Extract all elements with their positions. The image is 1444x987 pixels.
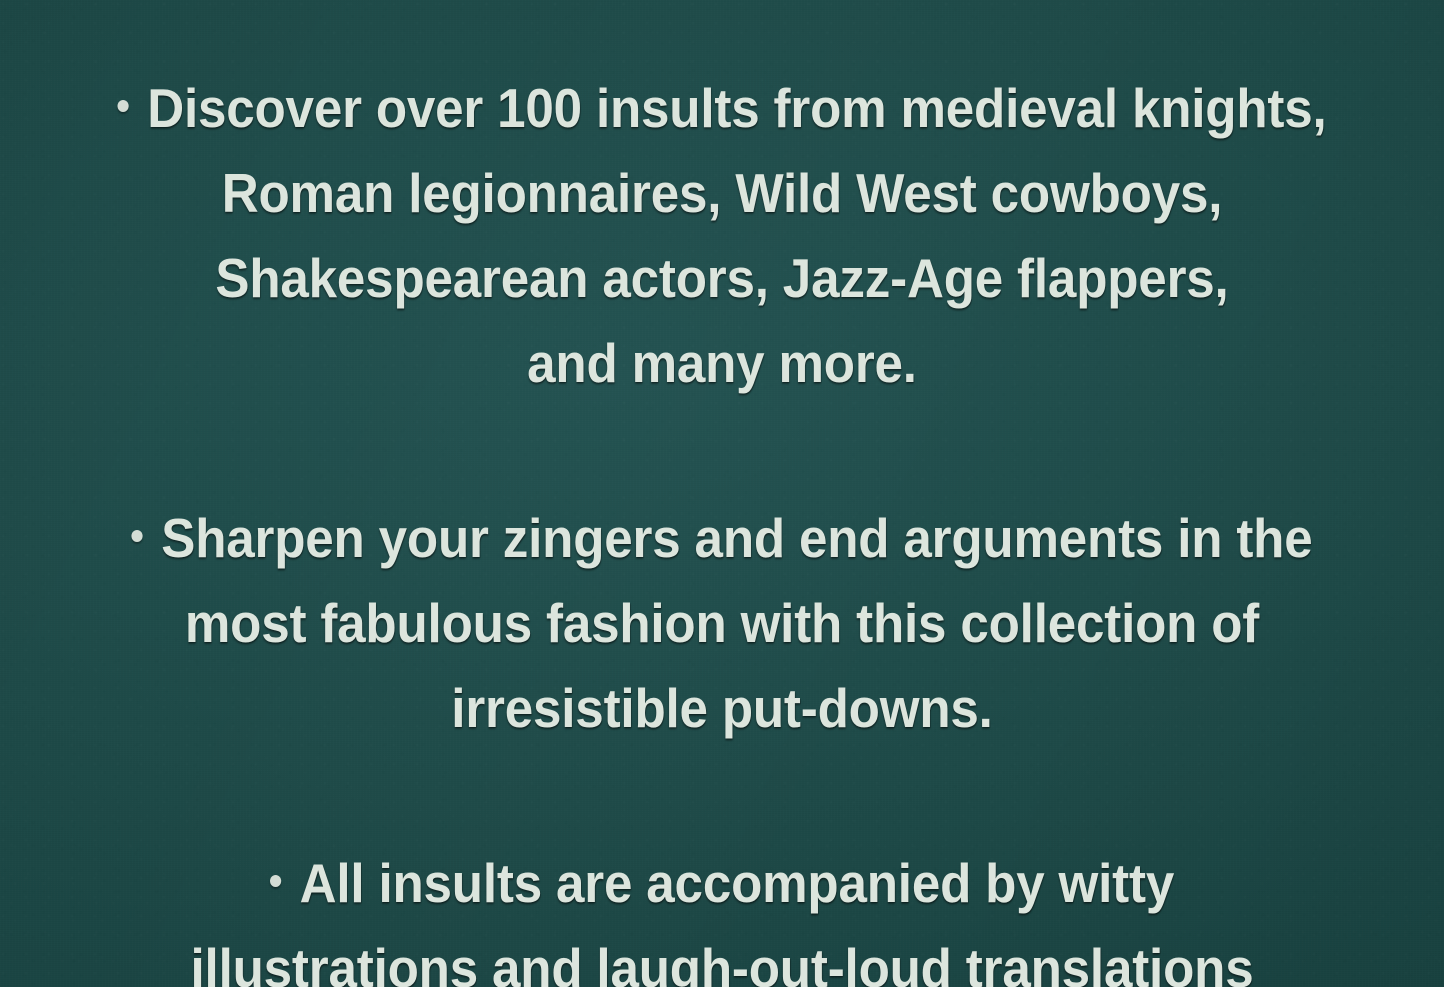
bullet-line-text: Discover over 100 insults from medieval …	[147, 77, 1326, 139]
bullet-first-line: Sharpen your zingers and end arguments i…	[51, 496, 1394, 581]
bullet-first-line: All insults are accompanied by witty	[51, 841, 1394, 926]
bullet-line-text: illustrations and laugh-out-loud transla…	[51, 926, 1394, 987]
bullet-dot-icon	[270, 875, 281, 887]
book-back-cover-panel: Discover over 100 insults from medieval …	[0, 0, 1444, 987]
bullet-line-text: irresistible put-downs.	[51, 666, 1394, 751]
bullet-line-text: Shakespearean actors, Jazz-Age flappers,	[51, 236, 1394, 321]
bullet-dot-icon	[132, 530, 143, 542]
bullet-line-text: Sharpen your zingers and end arguments i…	[161, 507, 1312, 569]
bullet-line-text: most fabulous fashion with this collecti…	[51, 581, 1394, 666]
list-item: All insults are accompanied by witty ill…	[51, 841, 1394, 987]
bullet-first-line: Discover over 100 insults from medieval …	[51, 66, 1394, 151]
list-item: Discover over 100 insults from medieval …	[51, 66, 1394, 406]
bullet-line-text: and many more.	[51, 321, 1394, 406]
bullet-line-text: Roman legionnaires, Wild West cowboys,	[51, 151, 1394, 236]
list-item: Sharpen your zingers and end arguments i…	[51, 496, 1394, 751]
bullet-dot-icon	[117, 100, 128, 112]
feature-bullet-list: Discover over 100 insults from medieval …	[0, 0, 1444, 987]
bullet-line-text: All insults are accompanied by witty	[300, 852, 1174, 914]
